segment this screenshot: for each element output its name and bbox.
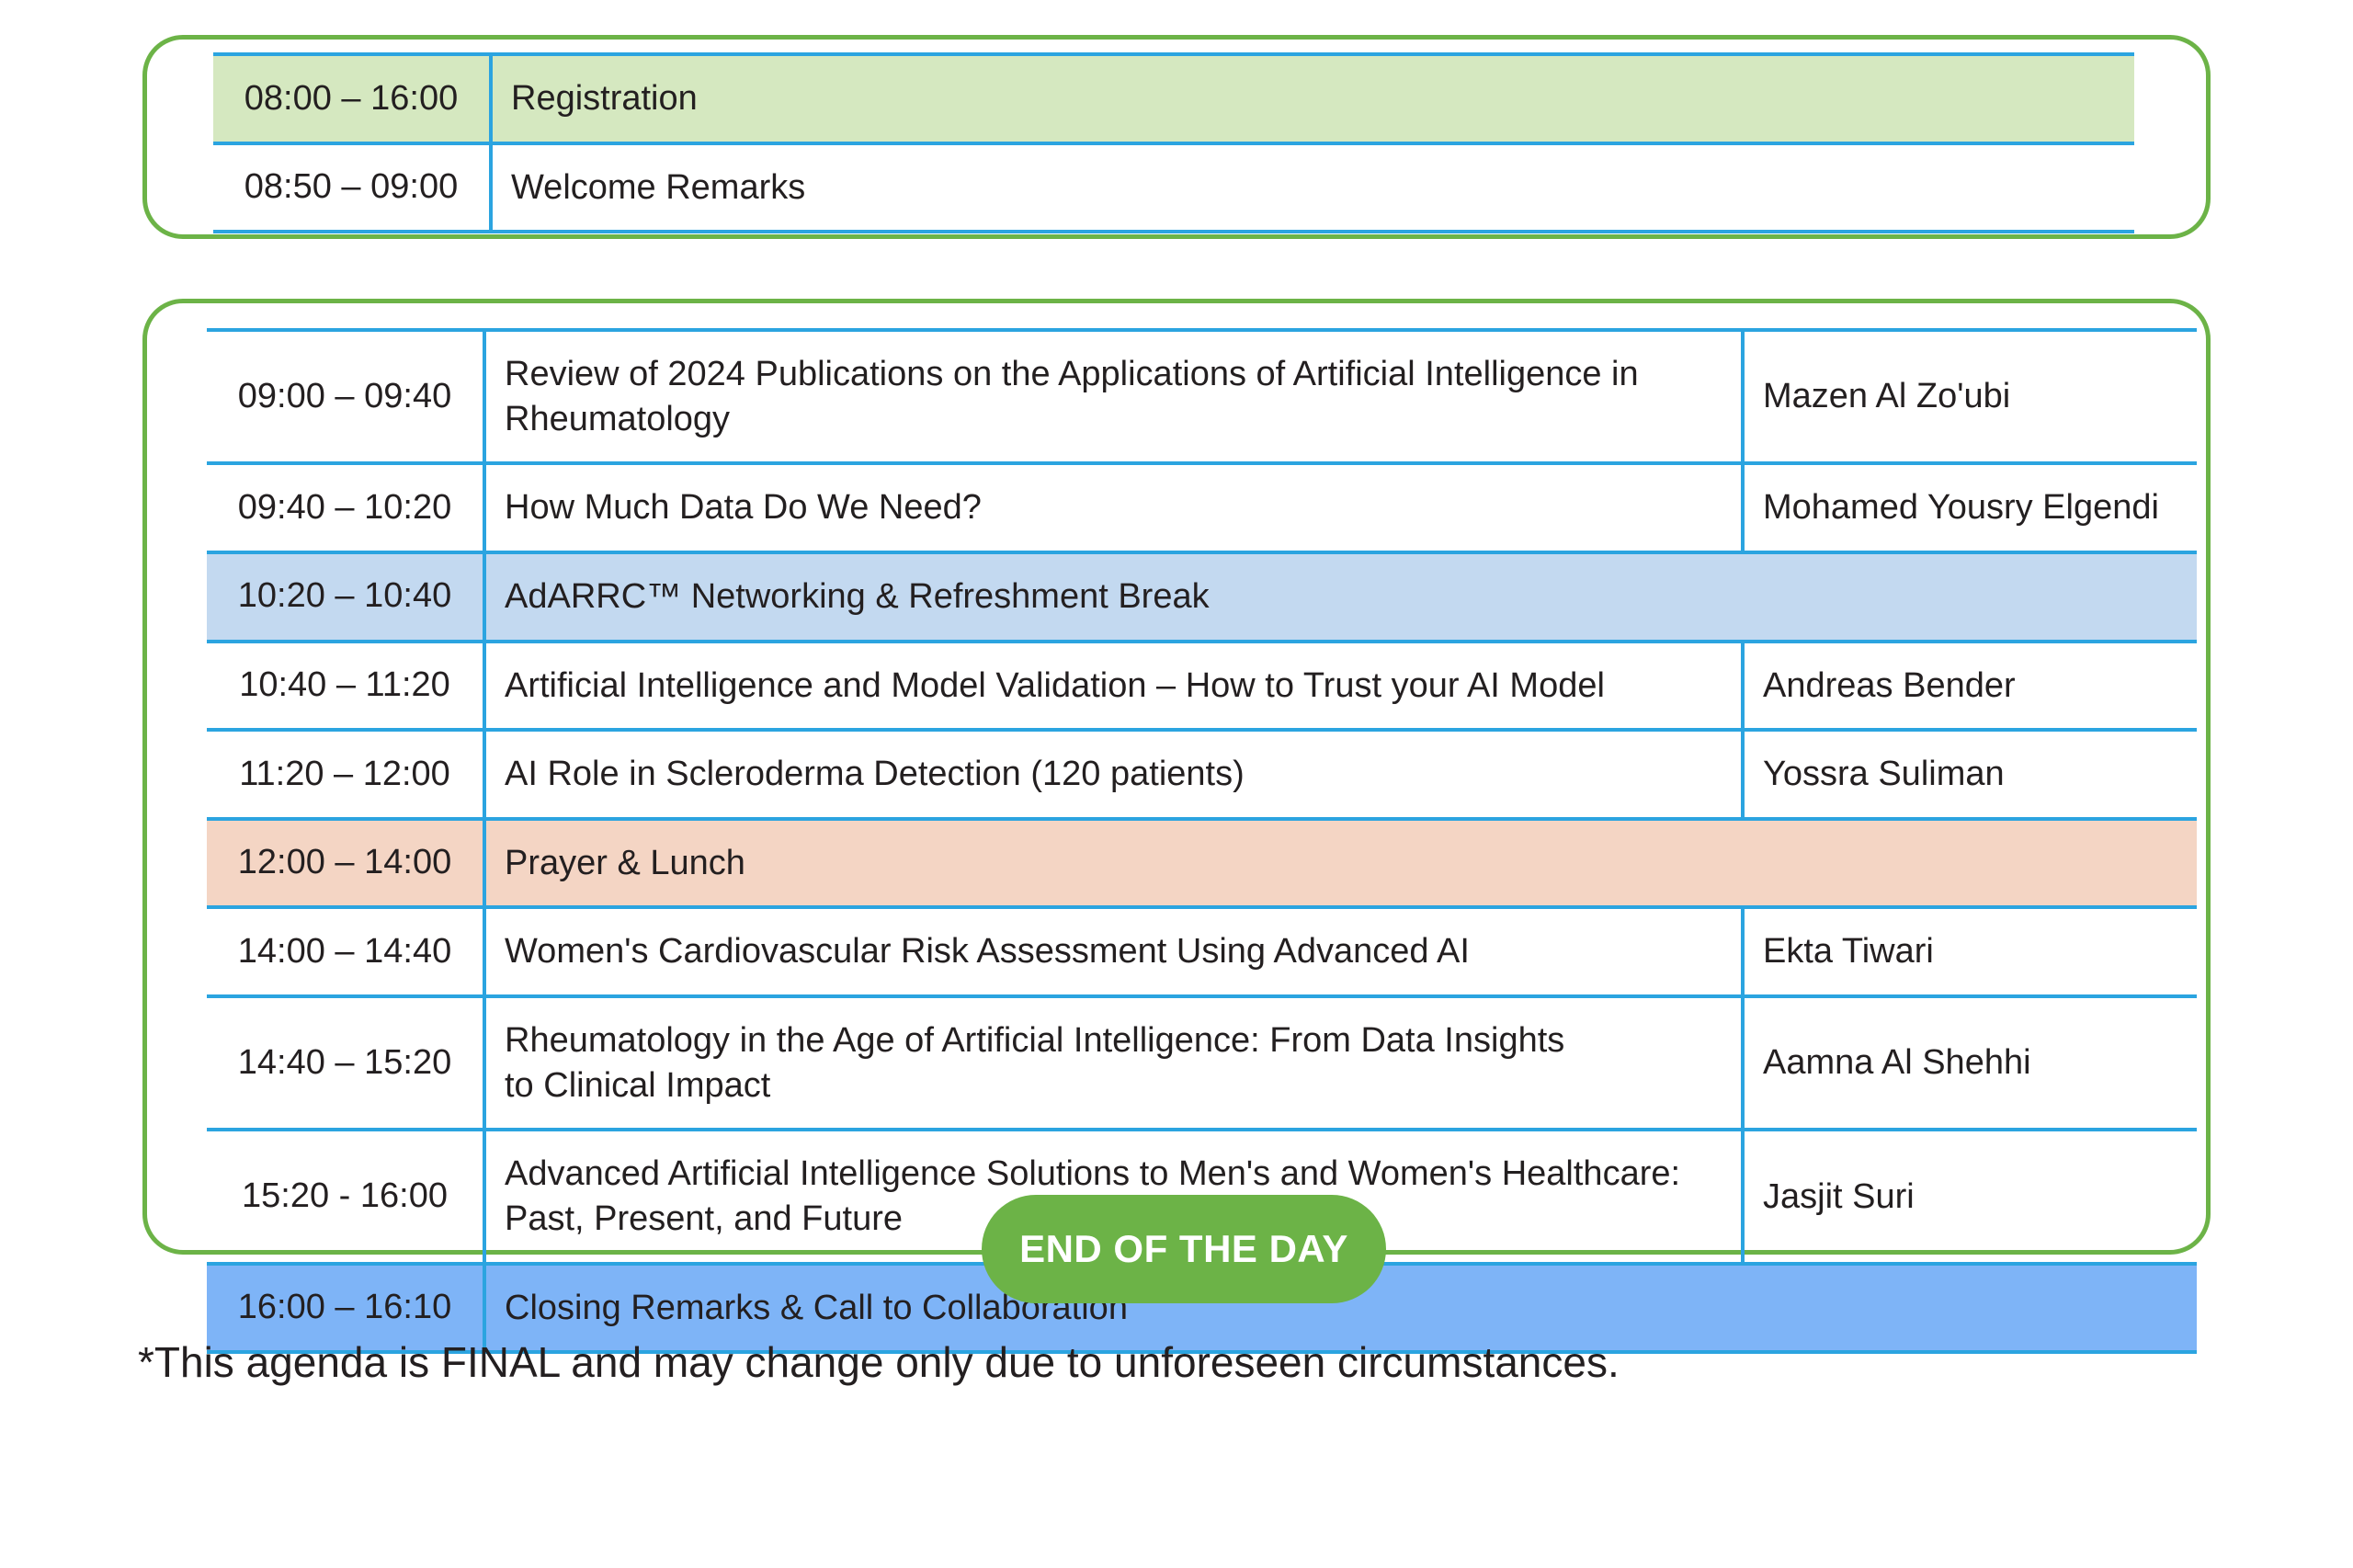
row-title-line1: Review of 2024 Publications on the Appli… xyxy=(505,352,1741,397)
row-title: How Much Data Do We Need? xyxy=(484,463,1743,552)
row-title: Women's Cardiovascular Risk Assessment U… xyxy=(484,907,1743,996)
row-title: Registration xyxy=(491,54,2134,143)
row-time: 12:00 – 14:00 xyxy=(207,819,484,908)
morning-agenda-rows: 08:00 – 16:00 Registration 08:50 – 09:00… xyxy=(213,54,2134,232)
end-of-day-badge: END OF THE DAY xyxy=(982,1195,1386,1303)
table-row: 09:00 – 09:40 Review of 2024 Publication… xyxy=(207,330,2197,463)
table-row: 08:50 – 09:00 Welcome Remarks xyxy=(213,143,2134,233)
row-time: 08:00 – 16:00 xyxy=(213,54,491,143)
table-row: 10:40 – 11:20 Artificial Intelligence an… xyxy=(207,642,2197,731)
table-row: 14:40 – 15:20 Rheumatology in the Age of… xyxy=(207,996,2197,1130)
row-title-line1: Advanced Artificial Intelligence Solutio… xyxy=(505,1152,1741,1197)
row-time: 10:40 – 11:20 xyxy=(207,642,484,731)
row-speaker: Jasjit Suri xyxy=(1743,1130,2197,1263)
table-row: 08:00 – 16:00 Registration xyxy=(213,54,2134,143)
row-time: 10:20 – 10:40 xyxy=(207,552,484,642)
row-speaker: Aamna Al Shehhi xyxy=(1743,996,2197,1130)
row-title: Welcome Remarks xyxy=(491,143,2134,233)
row-title: Artificial Intelligence and Model Valida… xyxy=(484,642,1743,731)
table-row: 09:40 – 10:20 How Much Data Do We Need? … xyxy=(207,463,2197,552)
row-title: AdARRC™ Networking & Refreshment Break xyxy=(484,552,2197,642)
row-speaker: Yossra Suliman xyxy=(1743,730,2197,819)
row-speaker: Mohamed Yousry Elgendi xyxy=(1743,463,2197,552)
row-title: Review of 2024 Publications on the Appli… xyxy=(484,330,1743,463)
row-title: Rheumatology in the Age of Artificial In… xyxy=(484,996,1743,1130)
row-title-line1: Rheumatology in the Age of Artificial In… xyxy=(505,1018,1741,1063)
table-row: 12:00 – 14:00 Prayer & Lunch xyxy=(207,819,2197,908)
row-time: 15:20 - 16:00 xyxy=(207,1130,484,1263)
row-title: Prayer & Lunch xyxy=(484,819,2197,908)
row-speaker: Andreas Bender xyxy=(1743,642,2197,731)
row-title-line2: Rheumatology xyxy=(505,397,1741,442)
row-time: 11:20 – 12:00 xyxy=(207,730,484,819)
agenda-footer-note: *This agenda is FINAL and may change onl… xyxy=(138,1337,1620,1387)
row-time: 09:40 – 10:20 xyxy=(207,463,484,552)
row-time: 08:50 – 09:00 xyxy=(213,143,491,233)
table-row: 11:20 – 12:00 AI Role in Scleroderma Det… xyxy=(207,730,2197,819)
table-row: 14:00 – 14:40 Women's Cardiovascular Ris… xyxy=(207,907,2197,996)
morning-agenda-table: 08:00 – 16:00 Registration 08:50 – 09:00… xyxy=(213,52,2134,233)
row-title-line2: to Clinical Impact xyxy=(505,1063,1741,1108)
row-time: 14:40 – 15:20 xyxy=(207,996,484,1130)
row-speaker: Mazen Al Zo'ubi xyxy=(1743,330,2197,463)
row-time: 09:00 – 09:40 xyxy=(207,330,484,463)
row-speaker: Ekta Tiwari xyxy=(1743,907,2197,996)
row-title: AI Role in Scleroderma Detection (120 pa… xyxy=(484,730,1743,819)
row-time: 14:00 – 14:40 xyxy=(207,907,484,996)
table-row: 10:20 – 10:40 AdARRC™ Networking & Refre… xyxy=(207,552,2197,642)
